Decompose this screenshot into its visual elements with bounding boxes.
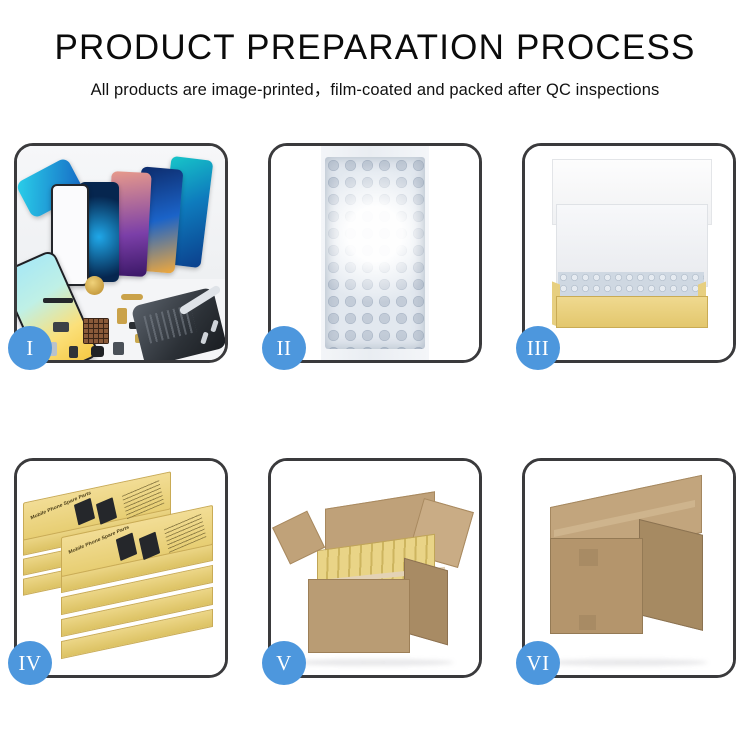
step-3-image [525, 146, 733, 360]
step-1-image [17, 146, 225, 360]
page-header: PRODUCT PREPARATION PROCESS All products… [0, 0, 750, 100]
process-step-panel-5[interactable]: V [268, 458, 482, 678]
step-badge-5: V [262, 641, 306, 685]
page-subtitle: All products are image-printed，film-coat… [0, 76, 750, 100]
step-badge-3: III [516, 326, 560, 370]
step-badge-4: IV [8, 641, 52, 685]
process-step-panel-2[interactable]: II [268, 143, 482, 363]
process-step-grid: I II III [14, 143, 736, 678]
page-title: PRODUCT PREPARATION PROCESS [0, 30, 750, 67]
step-6-image [525, 461, 733, 675]
process-step-panel-3[interactable]: III [522, 143, 736, 363]
process-step-panel-6[interactable]: VI [522, 458, 736, 678]
step-2-image [271, 146, 479, 360]
process-step-panel-1[interactable]: I [14, 143, 228, 363]
step-badge-1: I [8, 326, 52, 370]
step-4-image: Mobile Phone Spare Parts Mobile Phone Sp… [17, 461, 225, 675]
process-step-panel-4[interactable]: Mobile Phone Spare Parts Mobile Phone Sp… [14, 458, 228, 678]
step-badge-2: II [262, 326, 306, 370]
step-5-image [271, 461, 479, 675]
step-badge-6: VI [516, 641, 560, 685]
